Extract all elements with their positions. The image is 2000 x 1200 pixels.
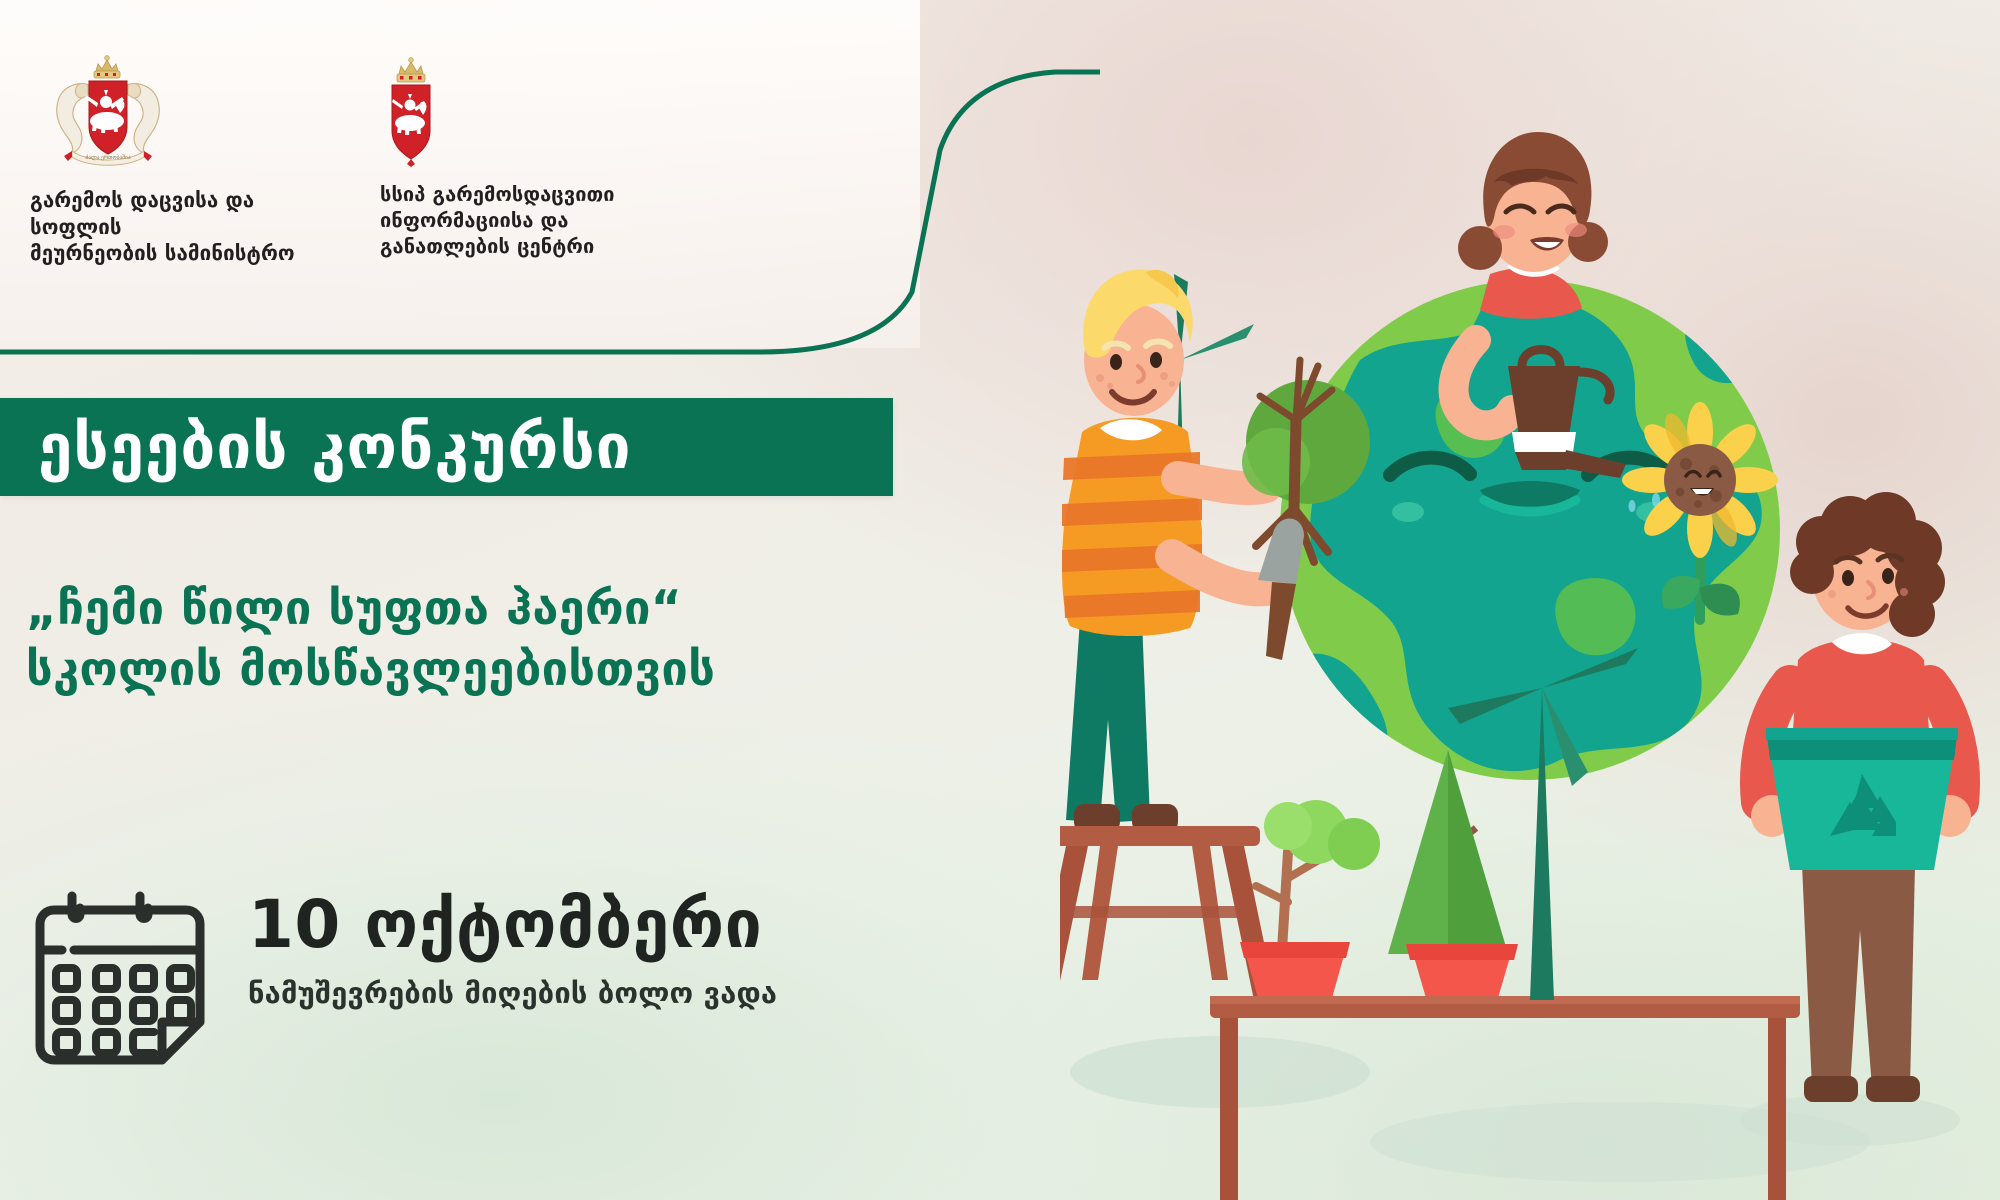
- deadline-note: ნამუშევრების მიღების ბოლო ვადა: [248, 976, 777, 1010]
- logo-row: ძალა ერთობაშია გარემოს დაცვისა და სოფლის…: [0, 55, 900, 255]
- center-logo-block: სსიპ გარემოსდაცვითი ინფორმაციისა და განა…: [380, 55, 670, 259]
- recycling-bin: [1766, 728, 1958, 870]
- deadline-block: 10 ოქტომბერი ნამუშევრების მიღების ბოლო ვ…: [28, 880, 1048, 1080]
- potted-sapling-left: [1240, 800, 1380, 998]
- page-title: ესეების კონკურსი: [0, 416, 632, 478]
- potted-conifer: [1388, 750, 1518, 998]
- svg-text:ძალა ერთობაშია: ძალა ერთობაშია: [85, 154, 130, 161]
- wooden-stool: [1060, 826, 1278, 1010]
- ministry-logo-label: გარემოს დაცვისა და სოფლის მეურნეობის სამ…: [30, 187, 330, 267]
- ministry-logo-block: ძალა ერთობაშია გარემოს დაცვისა და სოფლის…: [30, 55, 330, 267]
- georgia-coat-of-arms-icon: ძალა ერთობაშია: [38, 55, 178, 173]
- boy-striped-shirt: [1062, 418, 1202, 636]
- title-banner: ესეების კონკურსი: [0, 398, 893, 496]
- header-zone: ძალა ერთობაშია გარემოს დაცვისა და სოფლის…: [0, 0, 1000, 352]
- calendar-icon-wrap: [28, 888, 218, 1078]
- calendar-icon: [28, 888, 218, 1078]
- center-logo-label: სსიპ გარემოსდაცვითი ინფორმაციისა და განა…: [380, 181, 670, 259]
- illustration-svg: [1060, 60, 2000, 1200]
- deadline-date: 10 ოქტომბერი: [248, 892, 777, 958]
- georgia-shield-crest-icon: [380, 55, 442, 167]
- promotional-banner: ძალა ერთობაშია გარემოს დაცვისა და სოფლის…: [0, 0, 2000, 1200]
- subtitle-text: „ჩემი წილი სუფთა ჰაერი“ სკოლის მოსწავლეე…: [26, 578, 1046, 700]
- deadline-text-group: 10 ოქტომბერი ნამუშევრების მიღების ბოლო ვ…: [248, 880, 777, 1010]
- children-planting-earth-illustration: [1060, 60, 2000, 1200]
